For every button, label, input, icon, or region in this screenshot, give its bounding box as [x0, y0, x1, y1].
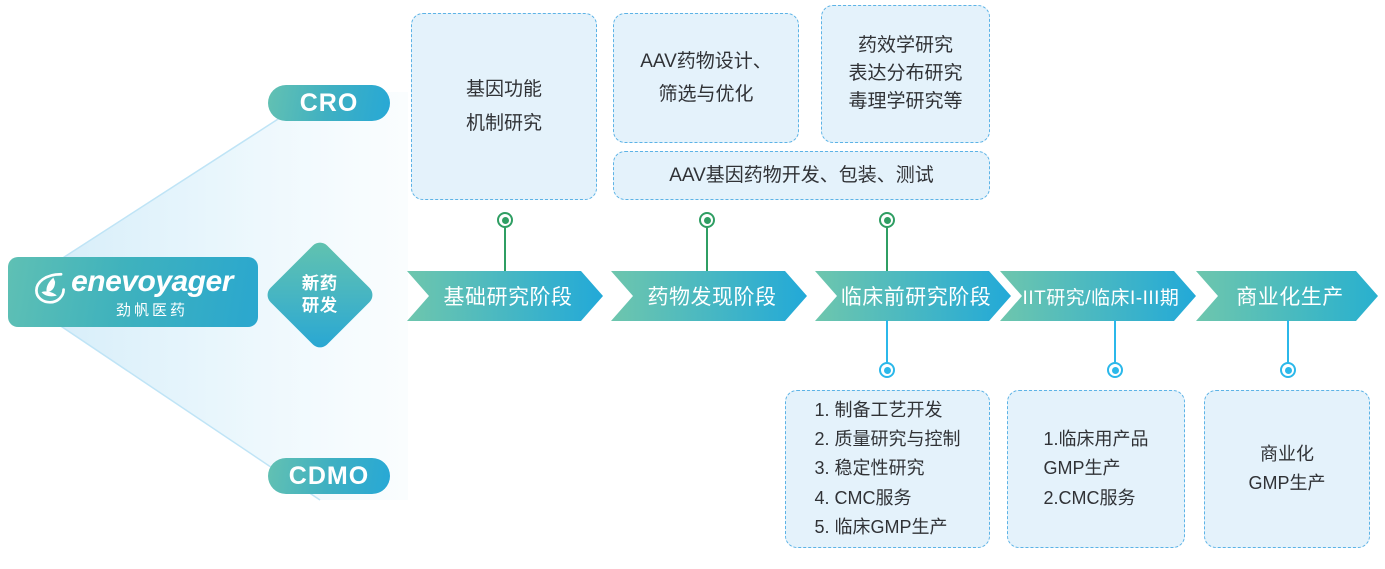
cro-box-aav-development-text: AAV基因药物开发、包装、测试 [669, 159, 934, 192]
cro-box-gene-function-text: 基因功能 机制研究 [466, 73, 542, 140]
connector-cdmo-3 [1279, 320, 1297, 382]
badge-cro[interactable]: CRO [268, 85, 390, 121]
leaf-drop-icon [33, 270, 67, 304]
stage-drug-discovery[interactable]: 药物发现阶段 [611, 271, 807, 321]
connector-cro-1-stem [504, 227, 506, 275]
logo-wordmark: enevoyager [71, 267, 233, 297]
connector-cdmo-1 [878, 320, 896, 382]
company-logo: enevoyager 劲帆医药 [8, 257, 258, 327]
cdmo-box-clinical-gmp-text: 1.临床用产品 GMP生产 2.CMC服务 [1043, 425, 1148, 512]
logo-chinese-name: 劲帆医药 [116, 303, 188, 318]
stage-basic-research-label: 基础研究阶段 [438, 281, 573, 311]
stage-commercial-production[interactable]: 商业化生产 [1196, 271, 1378, 321]
connector-cro-2 [698, 212, 716, 274]
center-node-label-line2: 研发 [302, 295, 338, 317]
cdmo-box-preclinical-cmc[interactable]: 1. 制备工艺开发 2. 质量研究与控制 3. 稳定性研究 4. CMC服务 5… [785, 390, 990, 548]
cdmo-box-preclinical-cmc-text: 1. 制备工艺开发 2. 质量研究与控制 3. 稳定性研究 4. CMC服务 5… [814, 396, 960, 542]
stage-commercial-production-label: 商业化生产 [1230, 281, 1344, 311]
stage-iit-clinical-label: IIT研究/临床I-III期 [1017, 283, 1180, 310]
connector-cro-2-stem [706, 227, 708, 275]
cro-box-pharmacology[interactable]: 药效学研究 表达分布研究 毒理学研究等 [821, 5, 990, 143]
connector-cdmo-1-stem [886, 320, 888, 365]
connector-cdmo-3-stem [1287, 320, 1289, 365]
diagram-canvas: enevoyager 劲帆医药 新药 研发 CRO CDMO 基因功能 机制研究… [0, 0, 1385, 569]
cdmo-box-commercial-gmp[interactable]: 商业化 GMP生产 [1204, 390, 1370, 548]
cro-box-aav-design-text: AAV药物设计、 筛选与优化 [640, 45, 772, 112]
cro-box-aav-development[interactable]: AAV基因药物开发、包装、测试 [613, 151, 990, 200]
connector-cro-1-dot [497, 212, 513, 228]
cdmo-box-commercial-gmp-text: 商业化 GMP生产 [1248, 440, 1325, 498]
connector-cdmo-1-dot [879, 362, 895, 378]
cro-box-gene-function[interactable]: 基因功能 机制研究 [411, 13, 597, 200]
stage-preclinical-research[interactable]: 临床前研究阶段 [815, 271, 1011, 321]
connector-cro-3-stem [886, 227, 888, 275]
cro-box-aav-design[interactable]: AAV药物设计、 筛选与优化 [613, 13, 799, 143]
cdmo-box-clinical-gmp[interactable]: 1.临床用产品 GMP生产 2.CMC服务 [1007, 390, 1185, 548]
connector-cdmo-2-stem [1114, 320, 1116, 365]
connector-cro-1 [496, 212, 514, 274]
center-node-label-line1: 新药 [302, 273, 338, 295]
connector-cro-3-dot [879, 212, 895, 228]
stage-preclinical-research-label: 临床前研究阶段 [835, 281, 992, 311]
stage-basic-research[interactable]: 基础研究阶段 [407, 271, 603, 321]
cro-box-pharmacology-text: 药效学研究 表达分布研究 毒理学研究等 [848, 32, 962, 116]
connector-cdmo-2-dot [1107, 362, 1123, 378]
center-node-new-drug-rd: 新药 研发 [264, 239, 376, 351]
stage-drug-discovery-label: 药物发现阶段 [642, 281, 777, 311]
connector-cro-2-dot [699, 212, 715, 228]
badge-cdmo[interactable]: CDMO [268, 458, 390, 494]
connector-cro-3 [878, 212, 896, 274]
connector-cdmo-3-dot [1280, 362, 1296, 378]
connector-cdmo-2 [1106, 320, 1124, 382]
stage-iit-clinical[interactable]: IIT研究/临床I-III期 [1000, 271, 1196, 321]
